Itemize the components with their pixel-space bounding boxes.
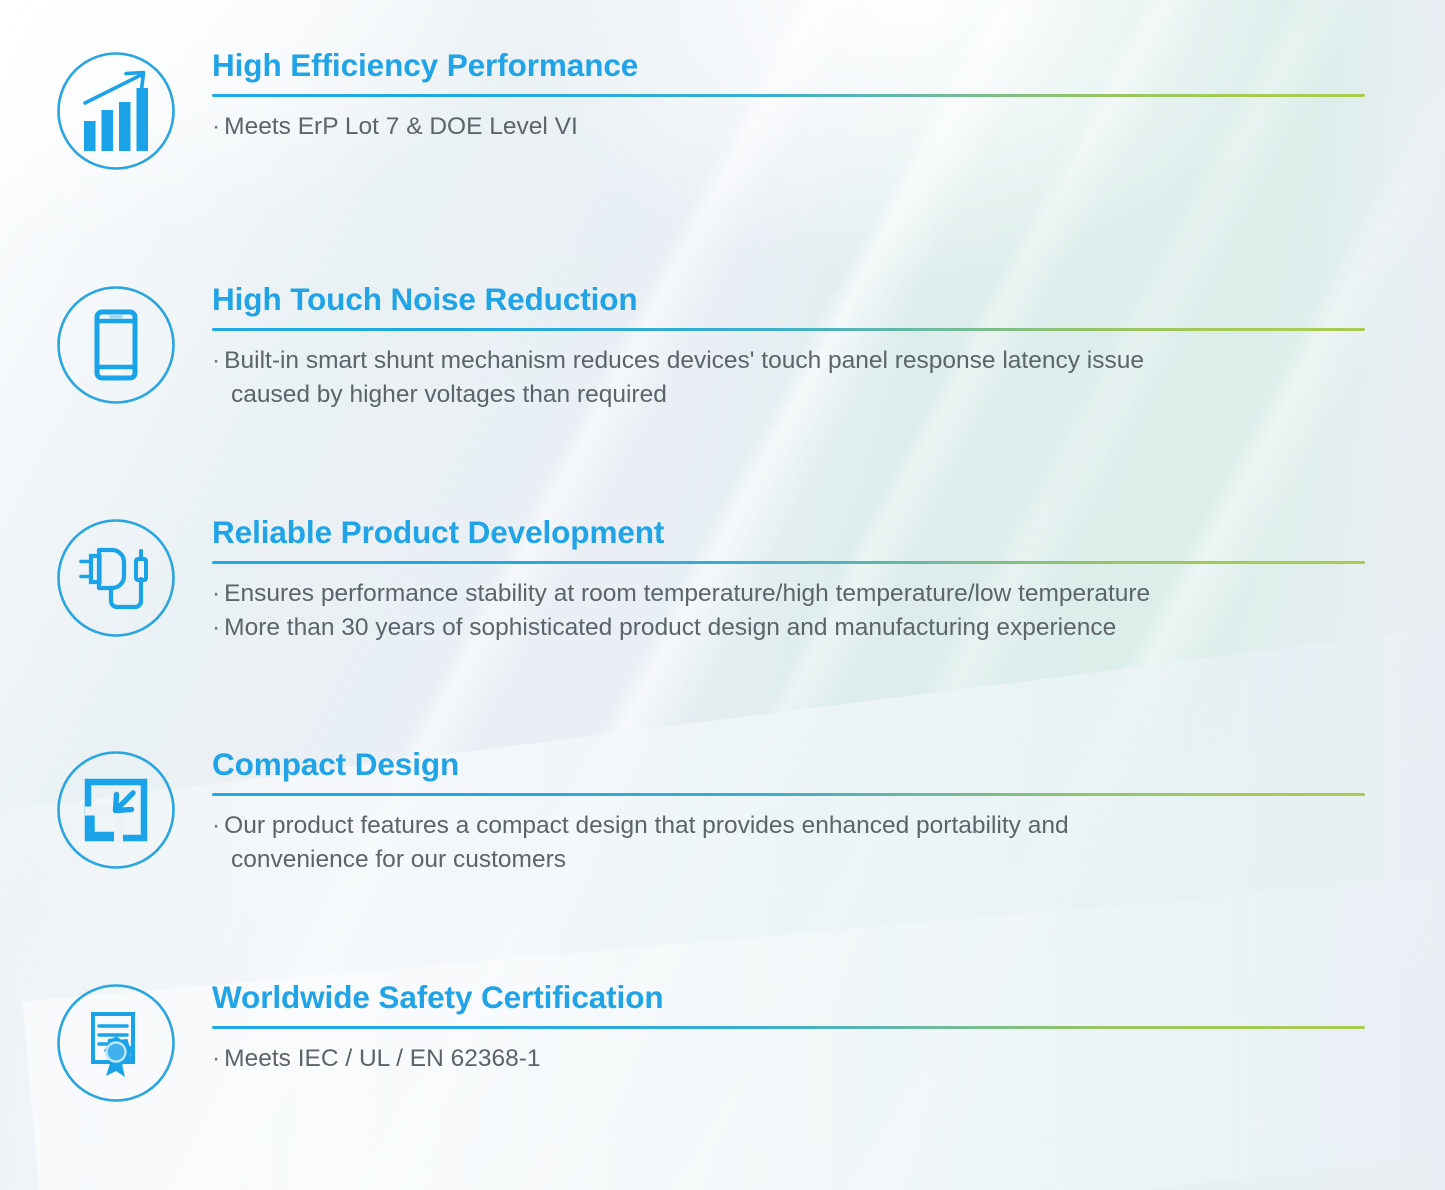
bullet-text: More than 30 years of sophisticated prod…	[224, 614, 1116, 641]
feature-title: High Efficiency Performance	[212, 50, 1445, 82]
compact-resize-icon	[55, 749, 177, 871]
feature-bullet-line: ·Our product features a compact design t…	[212, 809, 1445, 843]
feature-bullet-line-continuation: convenience for our customers	[212, 843, 1445, 877]
feature-item-reliable-product-development: Reliable Product Development ·Ensures pe…	[0, 517, 1445, 717]
feature-body: Compact Design ·Our product features a c…	[212, 749, 1445, 877]
feature-body: High Touch Noise Reduction ·Built-in sma…	[212, 284, 1445, 412]
feature-item-high-touch-noise-reduction: High Touch Noise Reduction ·Built-in sma…	[0, 284, 1445, 484]
power-adapter-icon	[55, 517, 177, 639]
bullet-marker: ·	[212, 1045, 224, 1072]
feature-divider	[212, 793, 1365, 796]
feature-bullet-line: ·More than 30 years of sophisticated pro…	[212, 611, 1445, 645]
bullet-text: Our product features a compact design th…	[224, 812, 1068, 839]
bullet-text: Meets ErP Lot 7 & DOE Level VI	[224, 113, 578, 140]
feature-divider	[212, 328, 1365, 331]
feature-highlights-page: High Efficiency Performance ·Meets ErP L…	[0, 0, 1445, 1190]
feature-body: Reliable Product Development ·Ensures pe…	[212, 517, 1445, 645]
feature-item-compact-design: Compact Design ·Our product features a c…	[0, 749, 1445, 949]
feature-bullets: ·Meets IEC / UL / EN 62368-1	[212, 1042, 1445, 1076]
feature-title: Reliable Product Development	[212, 517, 1445, 549]
feature-bullets: ·Our product features a compact design t…	[212, 809, 1445, 877]
bullet-marker: ·	[212, 347, 224, 374]
bullet-marker: ·	[212, 614, 224, 641]
certificate-award-icon	[55, 982, 177, 1104]
feature-item-high-efficiency-performance: High Efficiency Performance ·Meets ErP L…	[0, 50, 1445, 250]
feature-bullet-line: ·Meets IEC / UL / EN 62368-1	[212, 1042, 1445, 1076]
bar-chart-growth-icon	[55, 50, 177, 172]
feature-item-worldwide-safety-certification: Worldwide Safety Certification ·Meets IE…	[0, 982, 1445, 1182]
feature-bullet-line: ·Ensures performance stability at room t…	[212, 577, 1445, 611]
bullet-marker: ·	[212, 580, 224, 607]
feature-divider	[212, 94, 1365, 97]
feature-bullet-line-continuation: caused by higher voltages than required	[212, 378, 1445, 412]
feature-title: Worldwide Safety Certification	[212, 982, 1445, 1014]
smartphone-icon	[55, 284, 177, 406]
bullet-text: Built-in smart shunt mechanism reduces d…	[224, 347, 1144, 374]
feature-bullets: ·Ensures performance stability at room t…	[212, 577, 1445, 645]
bullet-text: Meets IEC / UL / EN 62368-1	[224, 1045, 540, 1072]
feature-bullets: ·Built-in smart shunt mechanism reduces …	[212, 344, 1445, 412]
bullet-marker: ·	[212, 812, 224, 839]
feature-body: High Efficiency Performance ·Meets ErP L…	[212, 50, 1445, 144]
feature-body: Worldwide Safety Certification ·Meets IE…	[212, 982, 1445, 1076]
feature-bullet-line: ·Built-in smart shunt mechanism reduces …	[212, 344, 1445, 378]
bullet-text: Ensures performance stability at room te…	[224, 580, 1150, 607]
feature-bullet-line: ·Meets ErP Lot 7 & DOE Level VI	[212, 110, 1445, 144]
feature-title: High Touch Noise Reduction	[212, 284, 1445, 316]
feature-divider	[212, 1026, 1365, 1029]
feature-bullets: ·Meets ErP Lot 7 & DOE Level VI	[212, 110, 1445, 144]
feature-title: Compact Design	[212, 749, 1445, 781]
feature-divider	[212, 561, 1365, 564]
bullet-marker: ·	[212, 113, 224, 140]
